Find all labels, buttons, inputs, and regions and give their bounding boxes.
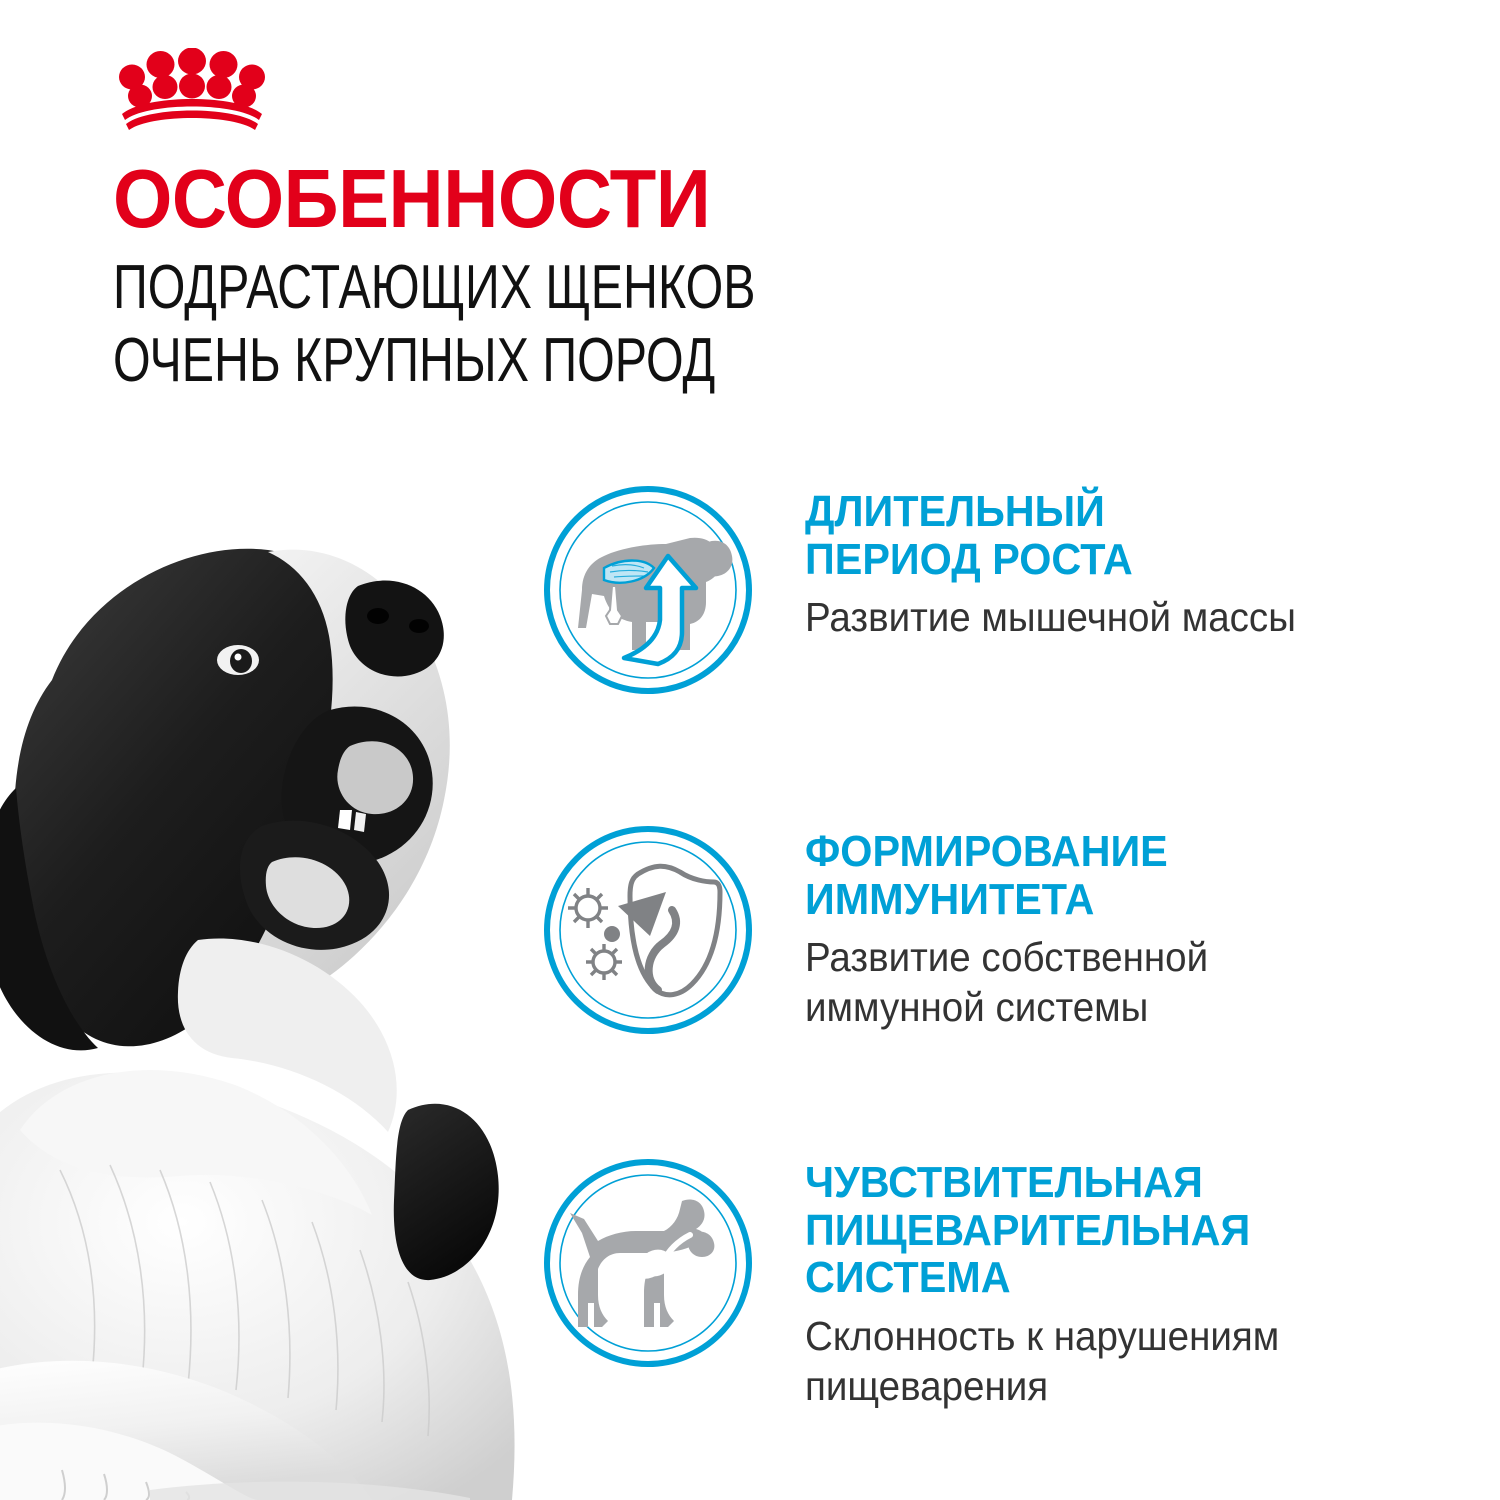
page-title: ОСОБЕННОСТИ	[113, 160, 941, 239]
feature-text-growth: ДЛИТЕЛЬНЫЙ ПЕРИОД РОСТА Развитие мышечно…	[805, 488, 1495, 642]
feature-text-digestion: ЧУВСТВИТЕЛЬНАЯ ПИЩЕВАРИТЕЛЬНАЯ СИСТЕМА С…	[805, 1159, 1495, 1411]
shield-immunity-icon	[540, 822, 756, 1038]
dog-growth-arrow-icon	[540, 482, 756, 698]
dog-digestive-system-icon	[540, 1155, 756, 1371]
feature-description: Развитие собственной иммунной системы	[805, 932, 1454, 1032]
product-feature-infographic: ОСОБЕННОСТИ ПОДРАСТАЮЩИХ ЩЕНКОВ ОЧЕНЬ КР…	[0, 0, 1500, 1500]
feature-description: Склонность к нарушениям пищеварения	[805, 1311, 1454, 1411]
page-subtitle-line-1: ПОДРАСТАЮЩИХ ЩЕНКОВ	[113, 251, 815, 324]
page-subtitle-line-2: ОЧЕНЬ КРУПНЫХ ПОРОД	[113, 324, 815, 397]
feature-description: Развитие мышечной массы	[805, 592, 1454, 642]
feature-heading: ФОРМИРОВАНИЕ ИММУНИТЕТА	[805, 828, 1454, 923]
feature-heading: ДЛИТЕЛЬНЫЙ ПЕРИОД РОСТА	[805, 488, 1454, 583]
saint-bernard-dog-photo	[0, 470, 620, 1500]
feature-text-immunity: ФОРМИРОВАНИЕ ИММУНИТЕТА Развитие собстве…	[805, 828, 1495, 1032]
feature-heading: ЧУВСТВИТЕЛЬНАЯ ПИЩЕВАРИТЕЛЬНАЯ СИСТЕМА	[805, 1159, 1454, 1302]
royal-canin-crown-logo	[112, 48, 272, 134]
page-header: ОСОБЕННОСТИ ПОДРАСТАЮЩИХ ЩЕНКОВ ОЧЕНЬ КР…	[113, 160, 1013, 397]
